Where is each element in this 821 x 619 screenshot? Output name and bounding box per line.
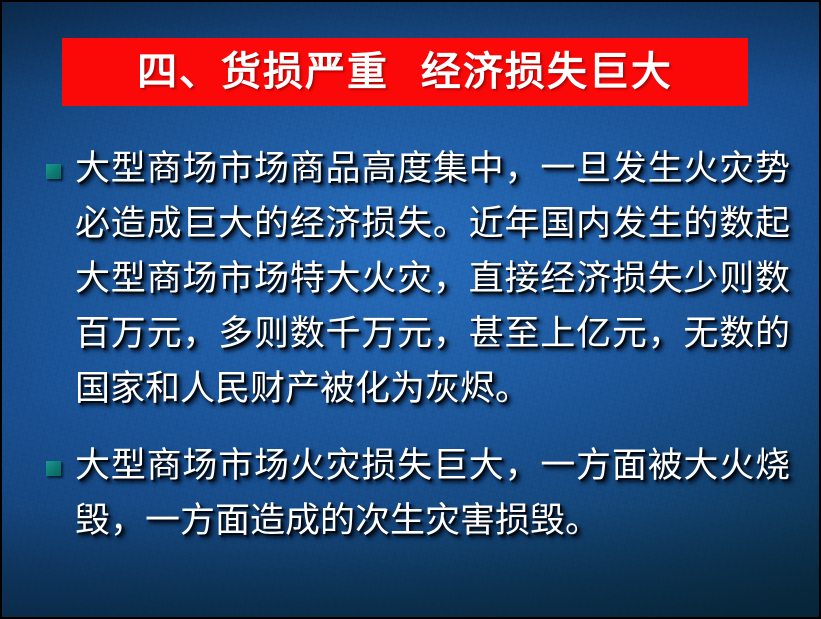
presentation-slide: 四、货损严重 经济损失巨大 大型商场市场商品高度集中，一旦发生火灾势必造成巨大的… — [0, 0, 821, 619]
bullet-paragraph-text: 大型商场市场商品高度集中，一旦发生火灾势必造成巨大的经济损失。近年国内发生的数起… — [75, 142, 790, 417]
square-bullet-icon — [46, 461, 61, 476]
slide-body: 大型商场市场商品高度集中，一旦发生火灾势必造成巨大的经济损失。近年国内发生的数起… — [46, 142, 790, 555]
title-banner: 四、货损严重 经济损失巨大 — [62, 38, 748, 106]
bullet-item: 大型商场市场商品高度集中，一旦发生火灾势必造成巨大的经济损失。近年国内发生的数起… — [46, 142, 790, 417]
square-bullet-icon — [46, 164, 61, 179]
bullet-item: 大型商场市场火灾损失巨大，一方面被大火烧毁，一方面造成的次生灾害损毁。 — [46, 439, 790, 549]
bullet-paragraph-text: 大型商场市场火灾损失巨大，一方面被大火烧毁，一方面造成的次生灾害损毁。 — [75, 439, 790, 549]
slide-title: 四、货损严重 经济损失巨大 — [137, 52, 673, 92]
